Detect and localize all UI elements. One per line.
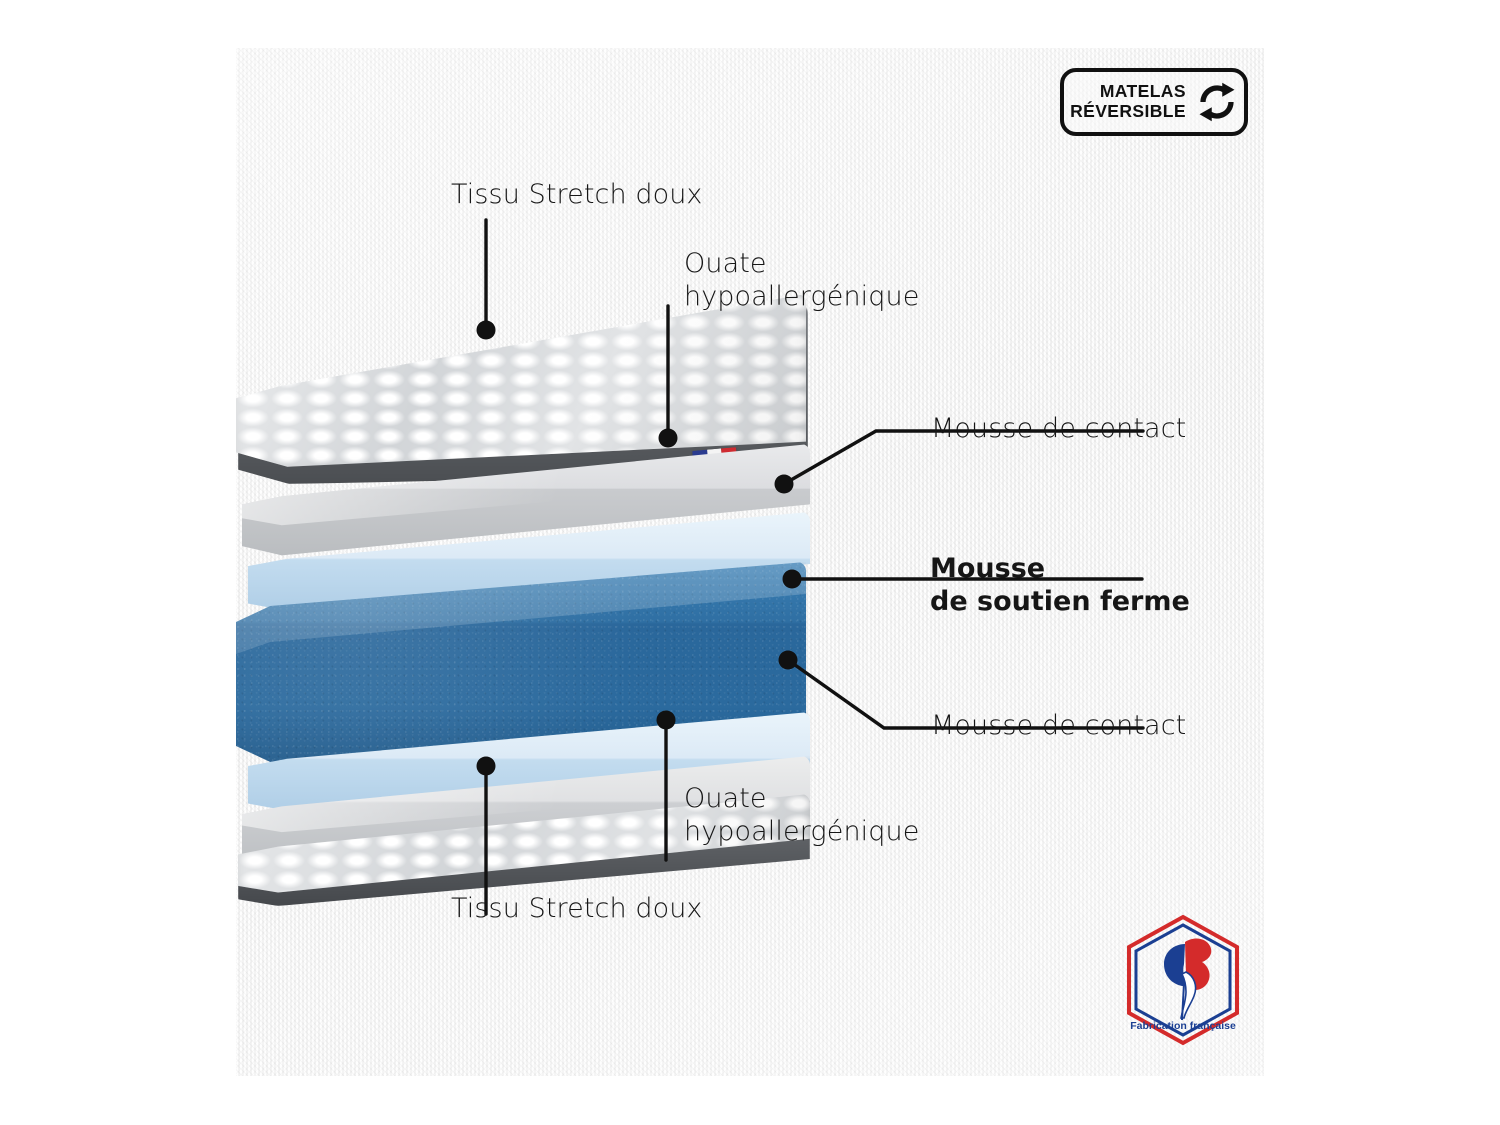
reversible-badge-text: MATELAS RÉVERSIBLE bbox=[1070, 82, 1186, 121]
reversible-badge-line1: MATELAS bbox=[1070, 82, 1186, 102]
callout-label-bottom-stretch: Tissu Stretch doux bbox=[451, 893, 703, 926]
reversible-badge-line2: RÉVERSIBLE bbox=[1070, 102, 1186, 122]
screenshot-root: Tissu Stretch doux Ouate hypoallergéniqu… bbox=[0, 0, 1500, 1125]
callout-label-top-stretch: Tissu Stretch doux bbox=[451, 179, 703, 212]
french-rooster-icon bbox=[1164, 939, 1211, 1020]
made-in-france-badge: Fabrication française bbox=[1124, 914, 1242, 1046]
arrowhead-bottom bbox=[1199, 107, 1211, 121]
made-in-france-caption: Fabrication française bbox=[1130, 1020, 1236, 1032]
callout-label-top-ouate: Ouate hypoallergénique bbox=[684, 248, 919, 314]
callout-label-bottom-ouate: Ouate hypoallergénique bbox=[684, 783, 919, 849]
reversible-mattress-badge: MATELAS RÉVERSIBLE bbox=[1060, 68, 1248, 136]
callout-label-top-contact: Mousse de contact bbox=[931, 413, 1186, 446]
callout-label-core: Mousse de soutien ferme bbox=[930, 553, 1190, 619]
arrowhead-top bbox=[1222, 83, 1234, 97]
reversible-arrows-icon bbox=[1196, 81, 1238, 123]
mattress-layer-stack bbox=[236, 294, 836, 864]
product-image-canvas: Tissu Stretch doux Ouate hypoallergéniqu… bbox=[236, 48, 1264, 1076]
callout-label-bottom-contact: Mousse de contact bbox=[931, 710, 1186, 743]
